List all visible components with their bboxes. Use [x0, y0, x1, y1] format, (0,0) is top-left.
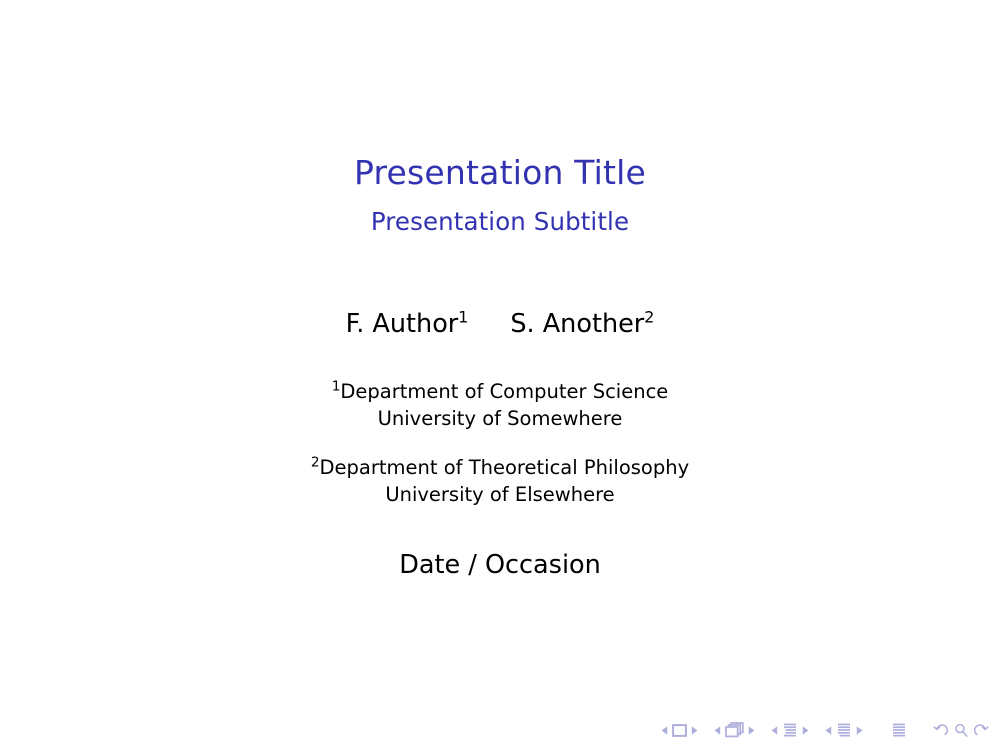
slide-icon[interactable] [672, 724, 687, 737]
beamer-navigation-bar[interactable] [658, 718, 990, 742]
back-icon[interactable] [933, 723, 948, 738]
nav-group-history [932, 723, 990, 738]
section-icon[interactable] [836, 723, 852, 738]
previous-section-icon[interactable] [825, 726, 832, 735]
nav-group-section [822, 723, 866, 738]
author-entry: S. Another2 [510, 307, 654, 341]
nav-group-subsection [768, 723, 812, 738]
search-icon[interactable] [954, 723, 968, 738]
nav-group-frame [711, 722, 758, 738]
previous-subsection-icon[interactable] [771, 726, 778, 735]
author-affiliation-mark: 1 [458, 308, 468, 327]
document-icon[interactable] [891, 723, 907, 738]
institute-department-line: 1Department of Computer Science [0, 379, 1000, 406]
institute-university: University of Somewhere [0, 406, 1000, 433]
page-title: Presentation Title [0, 152, 1000, 194]
beamer-title-slide: Presentation Title Presentation Subtitle… [0, 0, 1000, 750]
frame-icon[interactable] [725, 722, 744, 738]
previous-frame-icon[interactable] [714, 726, 721, 735]
author-affiliation-mark: 2 [644, 308, 654, 327]
author-name: F. Author [346, 309, 459, 339]
next-frame-icon[interactable] [748, 726, 755, 735]
author-entry: F. Author1 [346, 307, 469, 341]
page-subtitle: Presentation Subtitle [0, 206, 1000, 238]
nav-group-document [890, 723, 908, 738]
nav-group-slide [658, 724, 701, 737]
institute-block: 1Department of Computer Science Universi… [0, 379, 1000, 432]
previous-slide-icon[interactable] [661, 726, 668, 735]
author-name: S. Another [510, 309, 644, 339]
institute-department: Department of Theoretical Philosophy [320, 456, 690, 479]
institute-department-line: 2Department of Theoretical Philosophy [0, 455, 1000, 482]
author-list: F. Author1S. Another2 [0, 307, 1000, 341]
next-section-icon[interactable] [856, 726, 863, 735]
next-slide-icon[interactable] [691, 726, 698, 735]
institute-department: Department of Computer Science [340, 380, 668, 403]
institute-university: University of Elsewhere [0, 482, 1000, 509]
institute-mark: 2 [311, 455, 320, 471]
presentation-date: Date / Occasion [0, 548, 1000, 582]
institute-block: 2Department of Theoretical Philosophy Un… [0, 455, 1000, 508]
forward-icon[interactable] [974, 723, 989, 738]
subsection-icon[interactable] [782, 723, 798, 738]
next-subsection-icon[interactable] [802, 726, 809, 735]
